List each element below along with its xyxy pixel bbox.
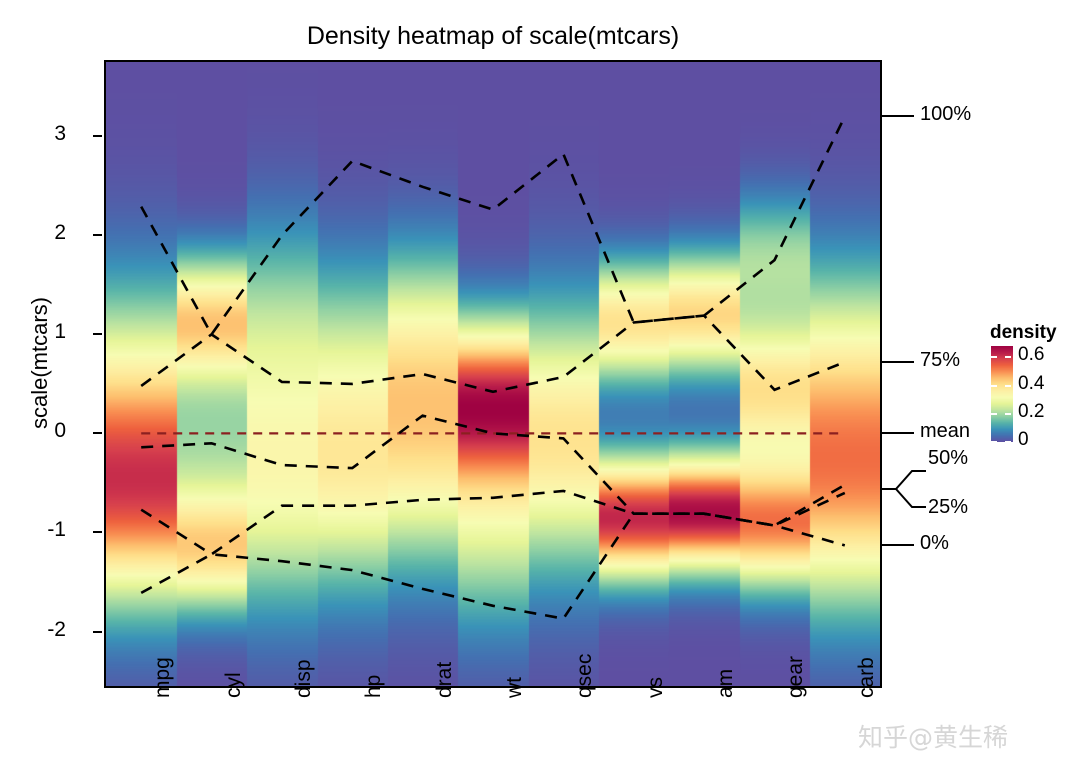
annotation-label-mean: mean [920,420,970,443]
y-tick-label: 1 [54,320,66,344]
legend-tick-mark [1005,385,1011,387]
heatmap-panel [104,60,882,688]
annotation-label-25pct: 25% [928,496,968,519]
x-tick-label-cyl: cyl [222,672,246,698]
y-tick-label: -1 [47,518,66,542]
y-axis-label: scale(mtcars) [27,243,53,483]
x-tick-label-drat: drat [433,662,457,698]
legend-tick-mark [991,441,997,443]
quantile-line-75pct [141,316,845,392]
legend-tick-mark [991,413,997,415]
legend-tick-mark [1005,441,1011,443]
y-tick-label: 2 [54,221,66,245]
annotation-label-75pct: 75% [920,349,960,372]
legend-tick-label: 0.2 [1018,401,1044,423]
y-tick-mark [93,234,102,236]
annotation-label-0pct: 0% [920,532,949,555]
legend-tick-label: 0.4 [1018,373,1044,395]
y-tick-mark [93,631,102,633]
x-tick-label-hp: hp [362,675,386,698]
legend-title: density [990,322,1057,344]
y-tick-mark [93,432,102,434]
annotation-label-100pct: 100% [920,103,971,126]
legend-tick-mark [991,356,997,358]
y-tick-label: 0 [54,419,66,443]
legend-tick-mark [1005,356,1011,358]
legend-colorbar [991,346,1013,442]
y-tick-label: 3 [54,122,66,146]
annotation-leader-line [882,544,914,546]
x-tick-label-wt: wt [503,677,527,698]
y-tick-label: -2 [47,618,66,642]
legend-tick-mark [991,385,997,387]
annotation-leader-line [882,115,914,117]
x-tick-label-am: am [714,669,738,698]
quantile-line-100pct [141,117,845,335]
chart-root: Density heatmap of scale(mtcars) 3210-1-… [0,0,1080,771]
y-tick-mark [93,333,102,335]
legend-tick-label: 0.6 [1018,344,1044,366]
legend-tick-mark [1005,413,1011,415]
annotation-label-50pct: 50% [928,447,968,470]
chart-title: Density heatmap of scale(mtcars) [0,22,986,51]
x-tick-label-mpg: mpg [151,657,175,698]
annotation-leader-line [882,432,914,434]
watermark: 知乎@黄生稀 [858,718,1008,754]
quantile-line-25pct [141,491,845,554]
x-tick-label-gear: gear [784,656,808,698]
x-tick-label-vs: vs [644,677,668,698]
y-tick-mark [93,531,102,533]
annotation-bracket [882,458,928,520]
legend-tick-label: 0 [1018,429,1029,451]
x-tick-label-disp: disp [292,659,316,698]
x-tick-label-qsec: qsec [573,654,597,698]
annotation-leader-line [882,361,914,363]
y-tick-mark [93,135,102,137]
quantile-line-50pct [141,416,845,526]
quantile-lines-overlay [106,62,880,686]
x-tick-label-carb: carb [855,657,879,698]
